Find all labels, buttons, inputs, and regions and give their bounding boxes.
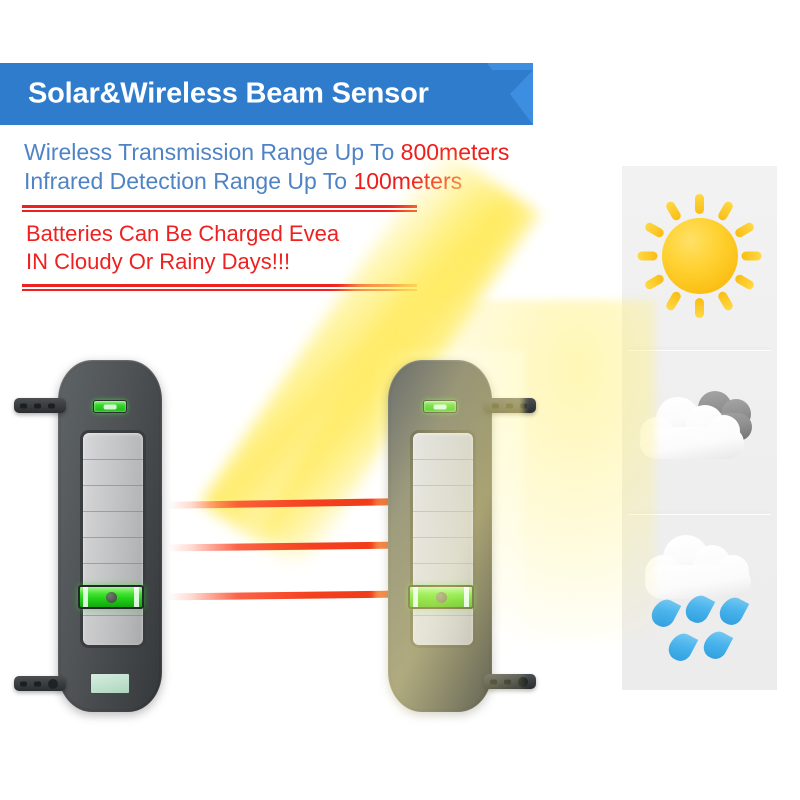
sun-disc [662, 218, 738, 294]
product-infographic: Solar&Wireless Beam Sensor Wireless Tran… [0, 0, 800, 800]
spec-line-transmission: Wireless Transmission Range Up To 800met… [24, 138, 594, 167]
left-mounting-bracket-bottom [14, 676, 66, 691]
weather-cell-sunny [622, 166, 777, 346]
callout-line-1: Batteries Can Be Charged Evea [26, 220, 417, 248]
weather-cell-cloudy [622, 352, 777, 510]
right-mounting-bracket-bottom [484, 674, 536, 689]
battery-callout: Batteries Can Be Charged Evea IN Cloudy … [22, 205, 417, 291]
sun-ray-4 [742, 252, 762, 261]
spec-transmission-value: 800meters [401, 139, 510, 165]
callout-text: Batteries Can Be Charged Evea IN Cloudy … [22, 212, 417, 282]
sun-ray-1 [695, 194, 704, 214]
left-spirit-level [78, 585, 144, 609]
rain-drop-4 [664, 629, 697, 665]
sun-ray-3 [734, 221, 756, 239]
sun-ray-5 [734, 273, 756, 291]
sun-ray-12 [665, 200, 683, 222]
right-status-led [423, 400, 457, 413]
right-spirit-level [408, 585, 474, 609]
right-mounting-bracket-top [484, 398, 536, 413]
left-mounting-bracket-top [14, 398, 66, 413]
rain-drop-5 [699, 627, 732, 663]
weather-divider-2 [628, 514, 771, 515]
sun-ray-11 [644, 221, 666, 239]
sun-ray-7 [695, 298, 704, 318]
spec-detection-prefix: Infrared Detection Range Up To [24, 168, 353, 194]
rain-drop-1 [647, 595, 680, 631]
weather-conditions-panel [622, 166, 777, 690]
sun-ray-6 [717, 290, 735, 312]
infrared-beam-2 [168, 542, 400, 552]
infrared-beam-1 [168, 498, 400, 509]
banner-ribbon-tail [487, 70, 533, 118]
partly-cloudy-icon [634, 383, 766, 479]
weather-cell-rainy [622, 516, 777, 690]
sun-ray-9 [644, 273, 666, 291]
left-beam-sensor[interactable] [58, 360, 162, 712]
header-banner: Solar&Wireless Beam Sensor [0, 63, 533, 125]
sun-ray-2 [717, 200, 735, 222]
spec-lines: Wireless Transmission Range Up To 800met… [24, 138, 594, 196]
callout-rule-bottom-thin [22, 289, 417, 291]
left-status-led [93, 400, 127, 413]
callout-line-2: IN Cloudy Or Rainy Days!!! [26, 248, 417, 276]
right-beam-sensor[interactable] [388, 360, 492, 712]
left-solar-panel [80, 430, 146, 648]
left-infrared-lens-window [90, 673, 130, 694]
sun-icon [630, 186, 770, 326]
spec-transmission-prefix: Wireless Transmission Range Up To [24, 139, 401, 165]
sun-ray-10 [638, 252, 658, 261]
callout-rule-top-thick [22, 205, 417, 208]
callout-rule-bottom-thick [22, 284, 417, 287]
callout-rules-bottom [22, 284, 417, 291]
page-title: Solar&Wireless Beam Sensor [28, 78, 429, 111]
sun-ray-8 [665, 290, 683, 312]
spec-detection-value: 100meters [353, 168, 462, 194]
rain-icon [637, 533, 763, 673]
infrared-beam-3 [168, 591, 400, 601]
weather-divider-1 [628, 350, 771, 351]
right-solar-panel [410, 430, 476, 648]
spec-line-detection: Infrared Detection Range Up To 100meters [24, 167, 594, 196]
